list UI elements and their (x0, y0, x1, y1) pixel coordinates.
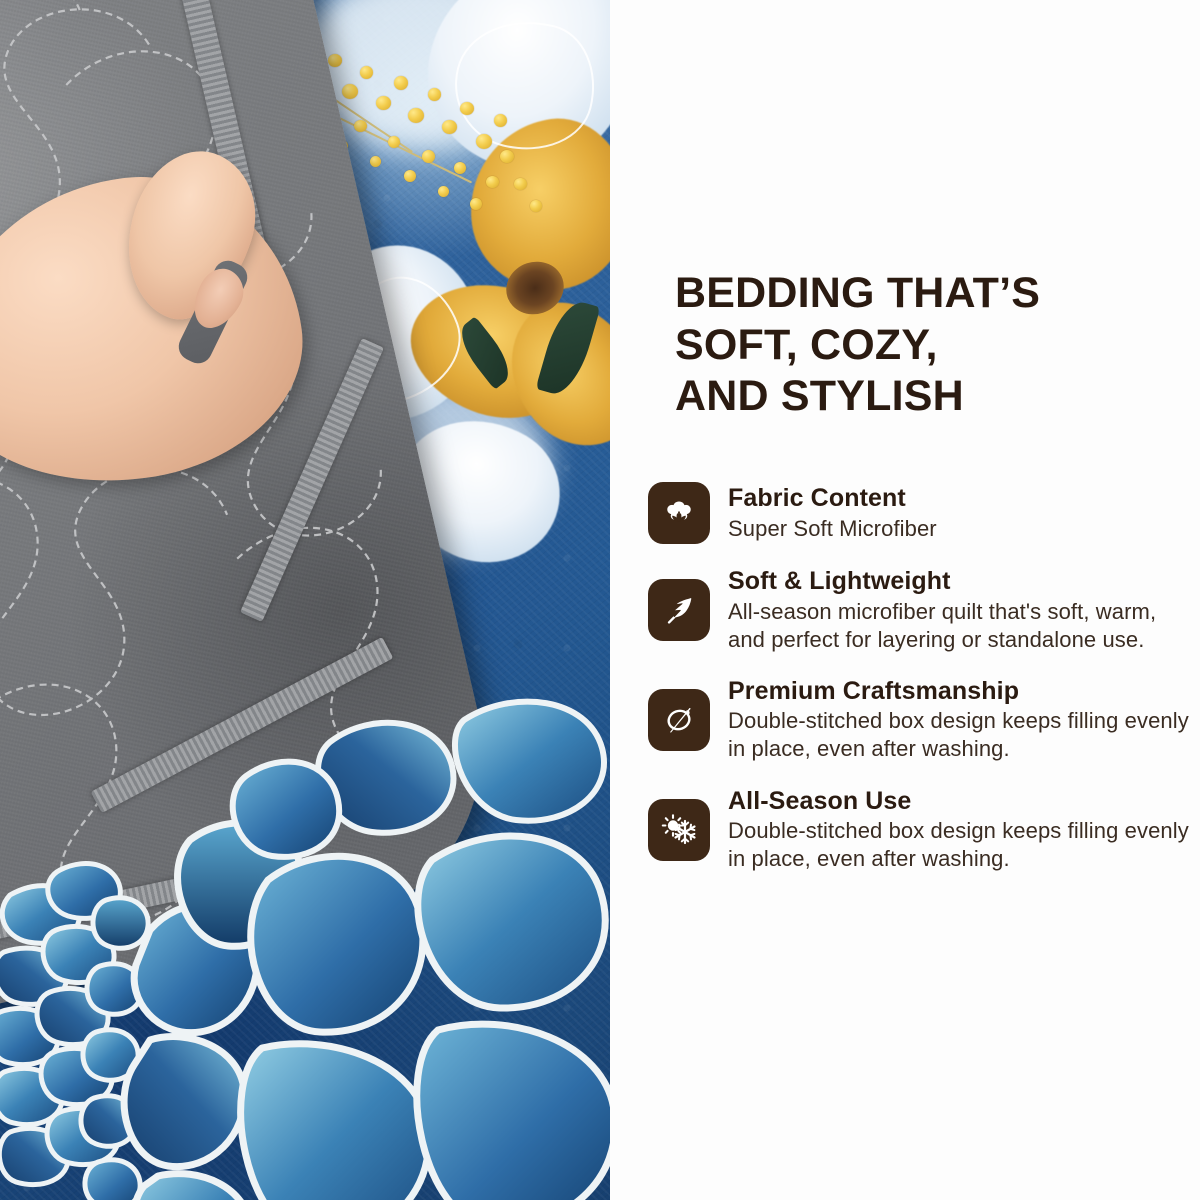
headline-line-3: AND STYLISH (675, 372, 964, 420)
infographic-page: BEDDING THAT’S SOFT, COZY, AND STYLISH (0, 0, 1200, 1200)
cotton-boll-icon (648, 482, 710, 544)
content-panel: BEDDING THAT’S SOFT, COZY, AND STYLISH (610, 0, 1200, 1200)
page-title: BEDDING THAT’S SOFT, COZY, AND STYLISH (675, 268, 1175, 423)
feature-text: All-Season Use Double-stitched box desig… (728, 786, 1193, 874)
feature-description: Double-stitched box design keeps filling… (728, 817, 1193, 873)
feature-item-soft-lightweight: Soft & Lightweight All-season microfiber… (648, 566, 1193, 654)
feature-item-fabric-content: Fabric Content Super Soft Microfiber (648, 482, 1193, 544)
feature-list: Fabric Content Super Soft Microfiber Sof… (648, 482, 1193, 895)
feature-title: Fabric Content (728, 484, 1193, 514)
feature-text: Premium Craftsmanship Double-stitched bo… (728, 676, 1193, 764)
feature-text: Fabric Content Super Soft Microfiber (728, 483, 1193, 543)
headline-line-1: BEDDING THAT’S (675, 269, 1040, 317)
feature-description: All-season microfiber quilt that's soft,… (728, 598, 1193, 654)
feature-item-premium-craftsmanship: Premium Craftsmanship Double-stitched bo… (648, 676, 1193, 764)
feature-title: Premium Craftsmanship (728, 677, 1193, 707)
feature-item-all-season-use: All-Season Use Double-stitched box desig… (648, 786, 1193, 874)
feather-icon (648, 579, 710, 641)
feature-description: Super Soft Microfiber (728, 515, 1193, 543)
feature-title: Soft & Lightweight (728, 567, 1193, 597)
sea-turtle-shell-pattern (0, 680, 610, 1200)
feature-text: Soft & Lightweight All-season microfiber… (728, 566, 1193, 654)
sun-snowflake-icon (648, 799, 710, 861)
needle-thread-icon (648, 689, 710, 751)
feature-description: Double-stitched box design keeps filling… (728, 707, 1193, 763)
product-photo (0, 0, 610, 1200)
feature-title: All-Season Use (728, 787, 1193, 817)
headline-line-2: SOFT, COZY, (675, 321, 938, 369)
